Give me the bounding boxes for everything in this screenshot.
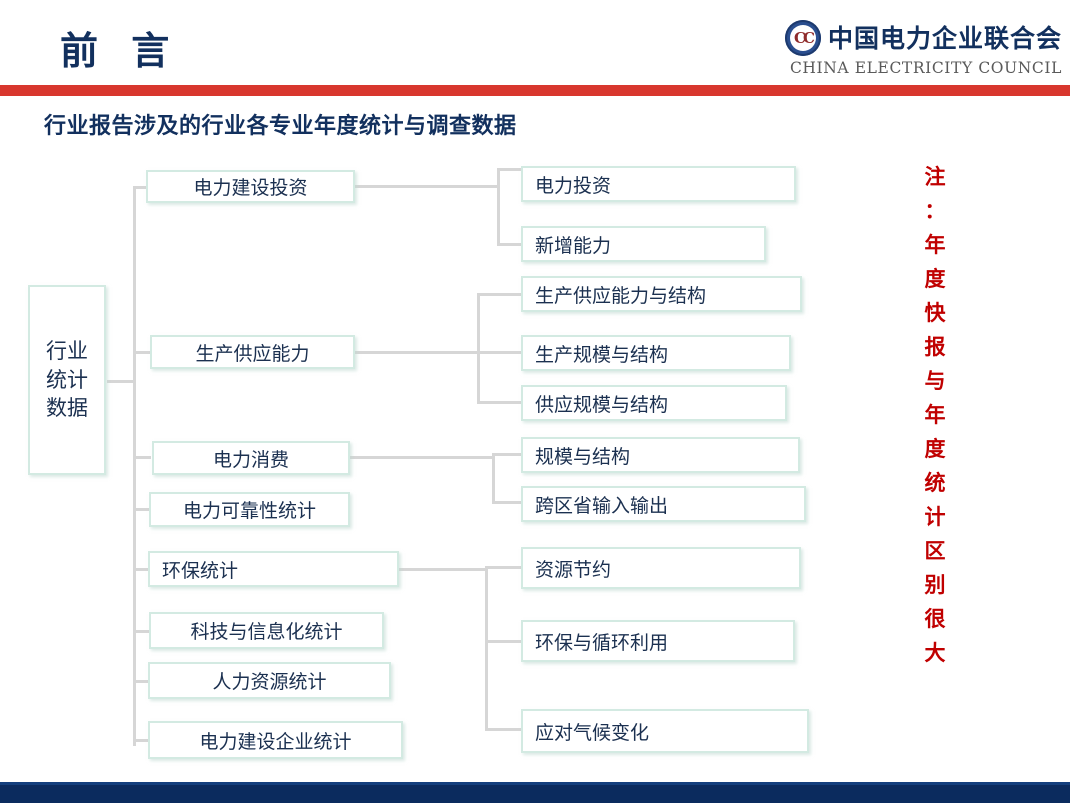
connector-l1-to-l2 xyxy=(492,453,523,456)
connector-root-spine xyxy=(133,186,136,746)
note-char: 与 xyxy=(918,364,952,398)
connector-l1-to-l2 xyxy=(492,453,495,503)
logo-chinese-name: 中国电力企业联合会 xyxy=(828,26,1062,51)
node-label: 电力消费 xyxy=(213,445,289,472)
page-title: 前 言 xyxy=(60,32,179,70)
tree-node-l1-power-reliability-statistics[interactable]: 电力可靠性统计 xyxy=(149,492,350,527)
node-label: 电力建设投资 xyxy=(193,173,307,200)
node-label: 科技与信息化统计 xyxy=(190,617,342,644)
tree-node-l2-resource-conservation[interactable]: 资源节约 xyxy=(521,547,801,589)
note-char: 很 xyxy=(918,602,952,636)
tree-node-l1-power-construction-enterprise-statistics[interactable]: 电力建设企业统计 xyxy=(148,721,403,759)
connector-l1-to-l2 xyxy=(350,456,495,459)
connector-l1-to-l2 xyxy=(497,243,523,246)
slide-root: 前 言 CC 中国电力企业联合会 CHINA ELECTRICITY COUNC… xyxy=(0,0,1070,803)
note-char: 度 xyxy=(918,432,952,466)
note-char: 大 xyxy=(918,636,952,670)
connector-root-to-l1 xyxy=(133,351,151,354)
note-char: 注 xyxy=(918,160,952,194)
connector-root-stub xyxy=(107,380,135,383)
connector-l1-to-l2 xyxy=(477,293,523,296)
connector-l1-to-l2 xyxy=(485,566,523,569)
note-char: 计 xyxy=(918,500,952,534)
connector-l1-to-l2 xyxy=(399,568,488,571)
tree-node-root[interactable]: 行业 统计 数据 xyxy=(28,285,106,475)
tree-node-l1-power-consumption[interactable]: 电力消费 xyxy=(152,441,350,475)
tree-node-l2-climate-change-response[interactable]: 应对气候变化 xyxy=(521,709,809,753)
note-char: 别 xyxy=(918,568,952,602)
note-char: 区 xyxy=(918,534,952,568)
note-char: ： xyxy=(918,194,952,228)
node-label: 环保统计 xyxy=(162,556,238,583)
node-label: 人力资源统计 xyxy=(212,667,326,694)
connector-l1-to-l2 xyxy=(477,351,523,354)
tree-node-l2-power-investment[interactable]: 电力投资 xyxy=(521,166,796,202)
note-char: 年 xyxy=(918,398,952,432)
section-subtitle: 行业报告涉及的行业各专业年度统计与调查数据 xyxy=(44,108,517,140)
header-accent-rule xyxy=(0,85,1070,96)
connector-l1-to-l2 xyxy=(485,640,523,643)
connector-l1-to-l2 xyxy=(477,401,523,404)
root-label-line: 统计 xyxy=(46,366,88,395)
node-label: 电力投资 xyxy=(535,171,611,198)
node-label: 生产规模与结构 xyxy=(535,340,668,367)
org-tree-diagram: 行业 统计 数据 电力建设投资 生产供应能力 电力消费 电力可靠性统计 环保统计… xyxy=(0,150,1070,780)
note-char: 度 xyxy=(918,262,952,296)
connector-l1-to-l2 xyxy=(492,501,523,504)
node-label: 应对气候变化 xyxy=(535,718,649,745)
connector-l1-to-l2 xyxy=(355,185,500,188)
tree-node-l2-environment-recycling[interactable]: 环保与循环利用 xyxy=(521,620,795,662)
connector-l1-to-l2 xyxy=(355,351,480,354)
tree-node-l2-supply-scale-structure[interactable]: 供应规模与结构 xyxy=(521,385,787,421)
tree-node-l1-production-supply-capacity[interactable]: 生产供应能力 xyxy=(150,335,355,369)
tree-node-l2-production-supply-capacity-structure[interactable]: 生产供应能力与结构 xyxy=(521,276,802,312)
connector-l1-to-l2 xyxy=(497,168,500,246)
node-label: 电力建设企业统计 xyxy=(199,727,351,754)
note-char: 年 xyxy=(918,228,952,262)
node-label: 资源节约 xyxy=(535,555,611,582)
node-label: 跨区省输入输出 xyxy=(535,491,668,518)
tree-node-l2-cross-region-province-io[interactable]: 跨区省输入输出 xyxy=(521,486,806,522)
node-label: 生产供应能力 xyxy=(195,339,309,366)
node-label: 电力可靠性统计 xyxy=(183,496,316,523)
tree-node-l1-power-construction-investment[interactable]: 电力建设投资 xyxy=(146,170,355,203)
tree-node-l2-new-capacity[interactable]: 新增能力 xyxy=(521,226,766,262)
tree-node-l1-environmental-statistics[interactable]: 环保统计 xyxy=(148,551,399,587)
note-char: 报 xyxy=(918,330,952,364)
connector-l1-to-l2 xyxy=(477,293,480,403)
node-label: 供应规模与结构 xyxy=(535,390,668,417)
connector-l1-to-l2 xyxy=(485,728,523,731)
root-label-line: 数据 xyxy=(46,394,88,423)
tree-node-l2-production-scale-structure[interactable]: 生产规模与结构 xyxy=(521,335,791,371)
connector-l1-to-l2 xyxy=(485,566,488,730)
connector-l1-to-l2 xyxy=(497,168,523,171)
node-label: 生产供应能力与结构 xyxy=(535,281,706,308)
node-label: 环保与循环利用 xyxy=(535,628,668,655)
node-label: 新增能力 xyxy=(535,231,611,258)
root-label-line: 行业 xyxy=(46,337,88,366)
footer-bar xyxy=(0,785,1070,803)
organization-logo: CC 中国电力企业联合会 CHINA ELECTRICITY COUNCIL xyxy=(785,20,1062,77)
tree-node-l1-human-resources-statistics[interactable]: 人力资源统计 xyxy=(148,662,391,699)
note-vertical-text: 注：年度快报与年度统计区别很大 xyxy=(918,160,952,670)
note-char: 统 xyxy=(918,466,952,500)
cec-emblem-icon: CC xyxy=(785,20,821,56)
connector-root-to-l1 xyxy=(133,456,151,459)
node-label: 规模与结构 xyxy=(535,442,630,469)
note-char: 快 xyxy=(918,296,952,330)
logo-english-name: CHINA ELECTRICITY COUNCIL xyxy=(790,59,1062,77)
tree-node-l1-technology-informatization-statistics[interactable]: 科技与信息化统计 xyxy=(149,612,384,649)
tree-node-l2-scale-structure[interactable]: 规模与结构 xyxy=(521,437,800,473)
